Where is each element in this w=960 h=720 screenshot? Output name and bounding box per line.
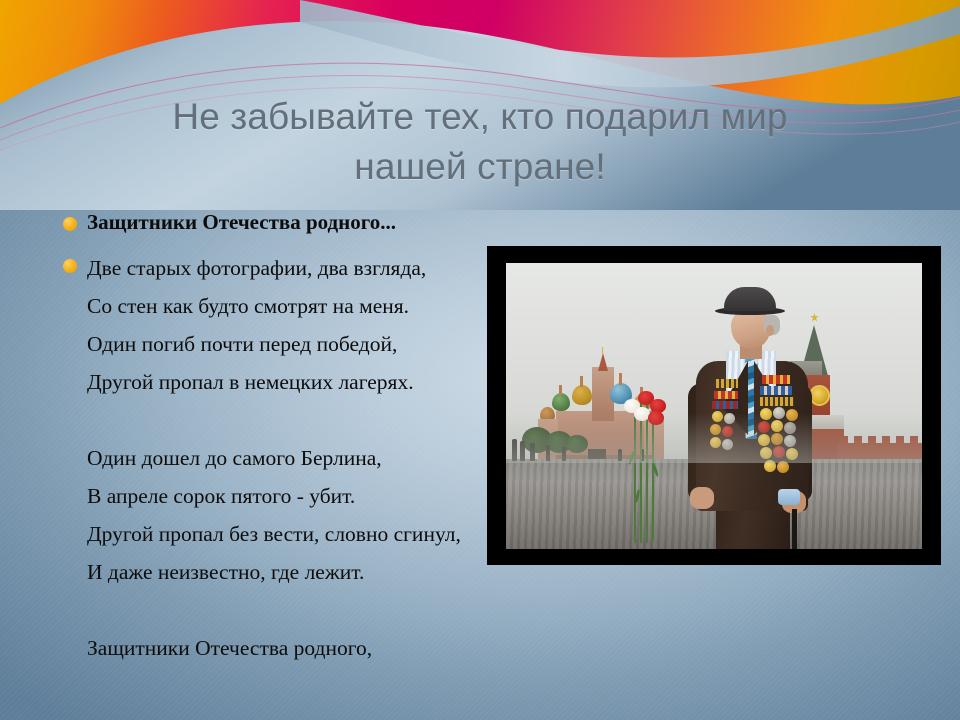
poem-line: Защитники Отечества родного, xyxy=(87,629,745,667)
bullet-dot-icon xyxy=(63,217,77,231)
title-line-2: нашей стране! xyxy=(60,142,900,192)
title-line-1: Не забывайте тех, кто подарил мир xyxy=(60,92,900,142)
veteran-left-hand xyxy=(690,487,714,509)
flat-cap xyxy=(724,287,776,311)
photo-haze xyxy=(506,413,922,463)
poem-line-blank xyxy=(87,591,745,629)
walking-stick xyxy=(792,509,797,549)
photo-frame[interactable]: 1945 xyxy=(488,247,940,564)
slide-canvas: Не забывайте тех, кто подарил мир нашей … xyxy=(0,0,960,720)
bullet-heading-text: Защитники Отечества родного... xyxy=(87,210,396,234)
blue-cap-in-hand xyxy=(778,489,800,505)
slide-title: Не забывайте тех, кто подарил мир нашей … xyxy=(60,92,900,192)
bullet-item-heading: Защитники Отечества родного... xyxy=(45,207,745,237)
bullet-dot-icon xyxy=(63,259,77,273)
veteran-photograph: 1945 xyxy=(506,263,922,549)
